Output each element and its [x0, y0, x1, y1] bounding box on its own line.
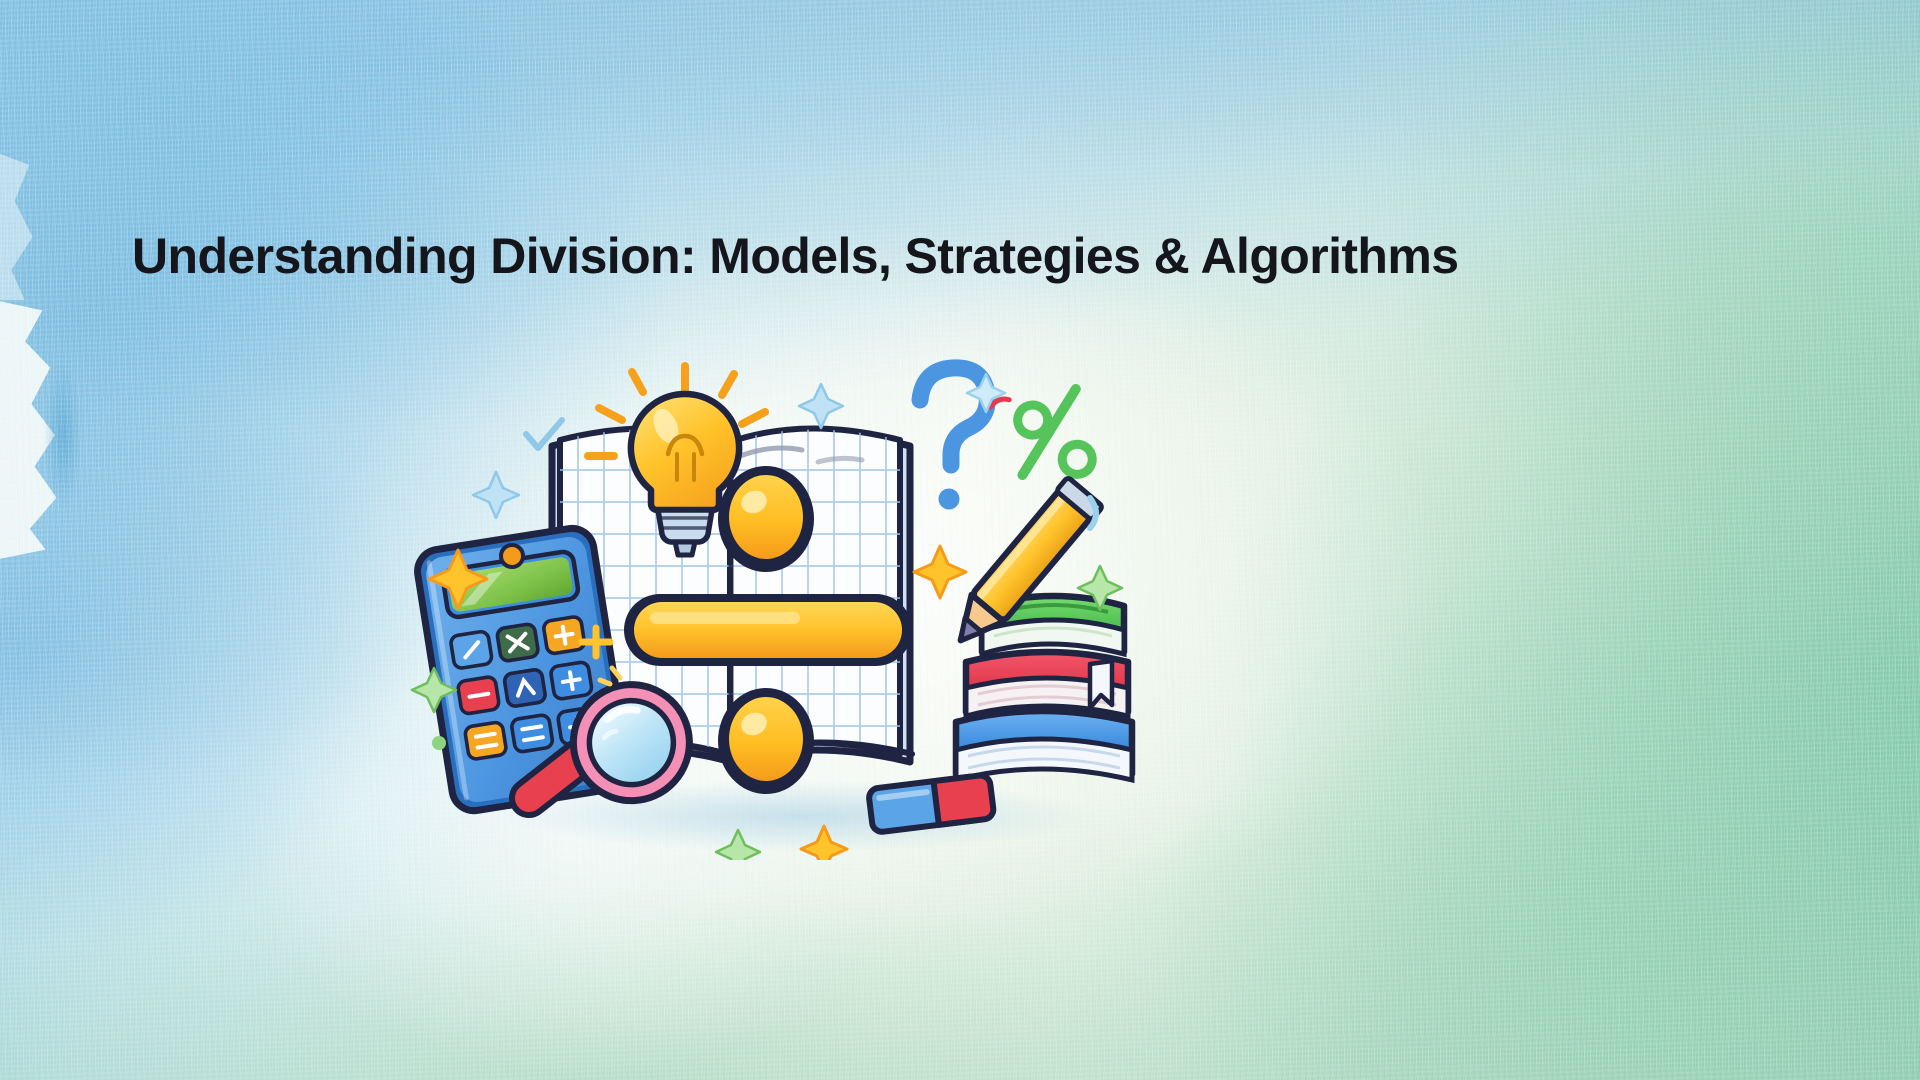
article-header-banner: Understanding Division: Models, Strategi…	[0, 0, 1920, 1080]
book-red	[966, 652, 1128, 716]
sparkle-blue-left	[473, 472, 519, 518]
percent-sign	[989, 379, 1098, 493]
dot-orange	[501, 545, 523, 567]
sparkle-orange-mid-right	[914, 546, 966, 598]
page-title: Understanding Division: Models, Strategi…	[132, 228, 1612, 284]
division-math-illustration	[400, 350, 1200, 860]
sparkle-blue-top	[799, 384, 843, 428]
book-blue	[956, 711, 1132, 780]
dot-green	[432, 736, 446, 750]
